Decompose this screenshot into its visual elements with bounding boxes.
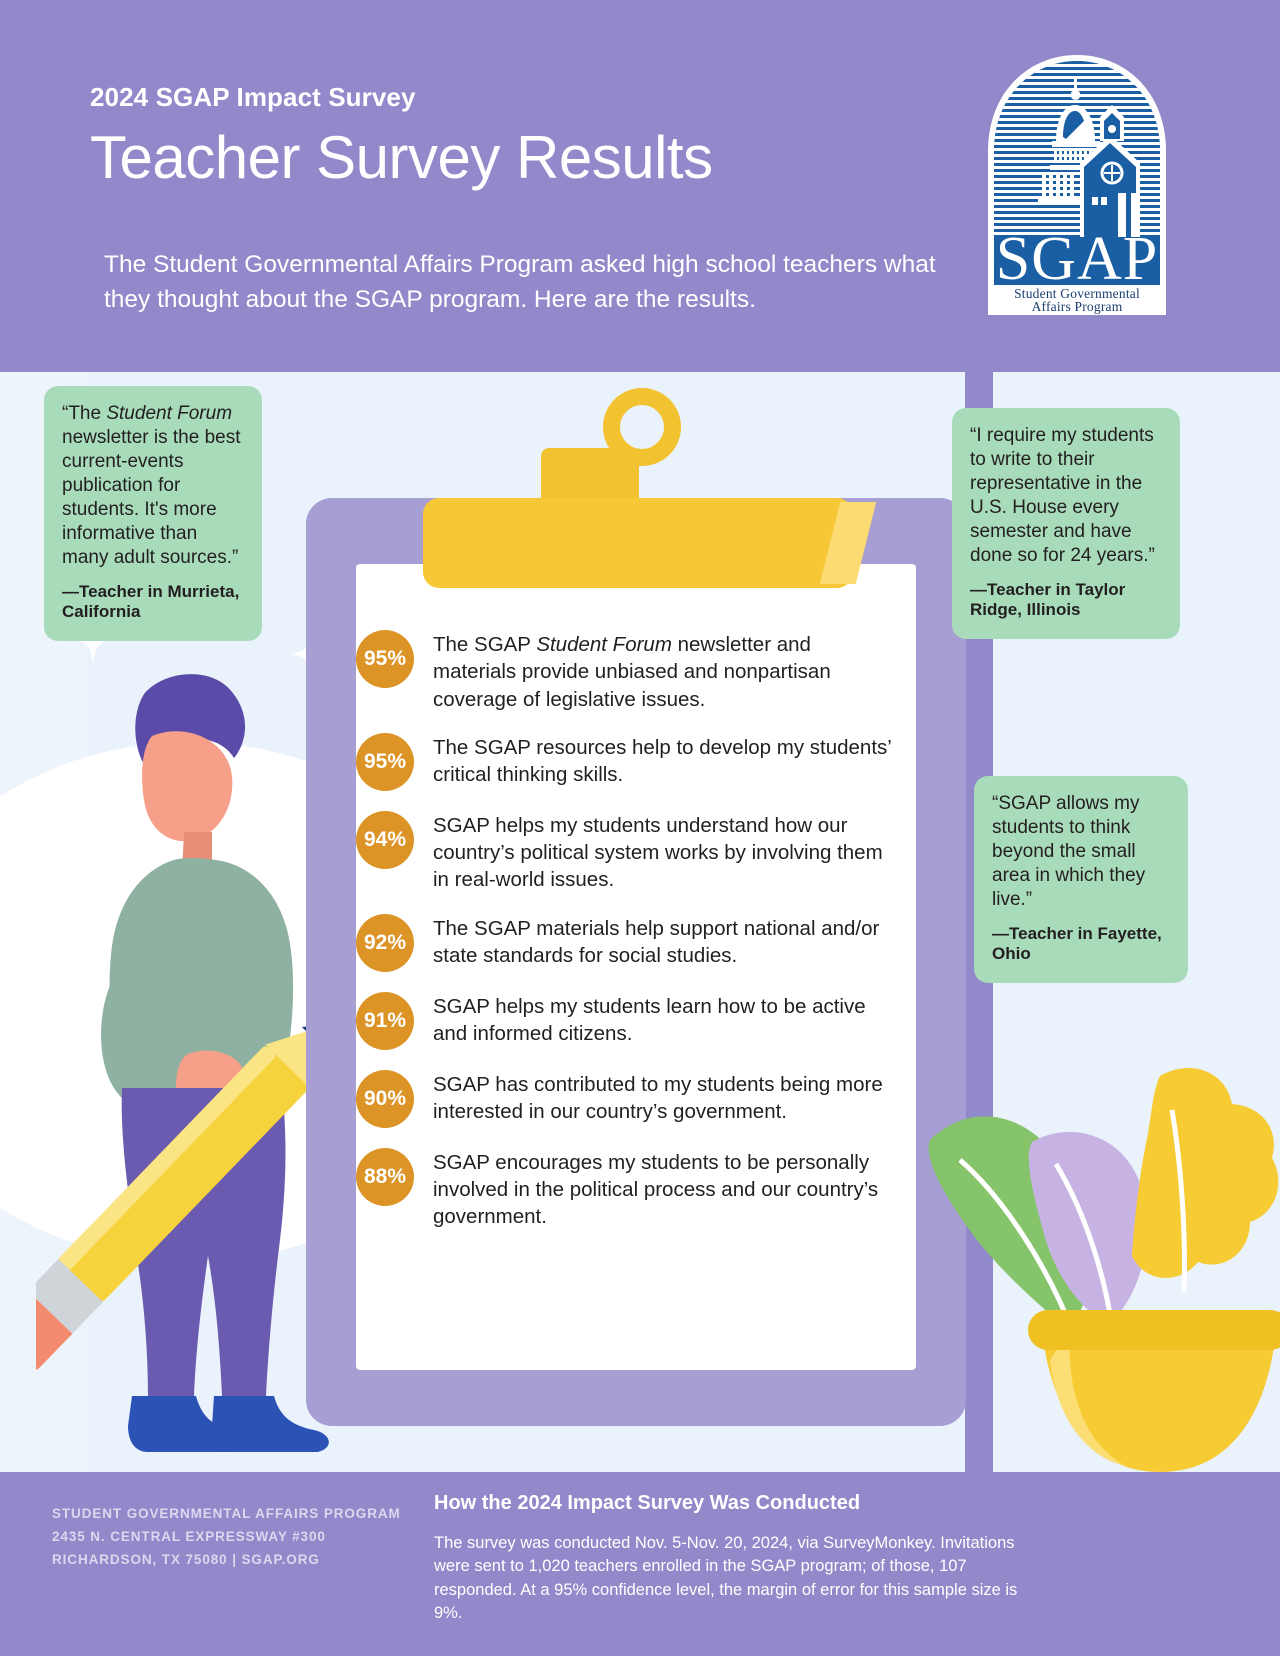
stat-row: 90% SGAP has contributed to my students … bbox=[356, 1070, 896, 1128]
quote-attribution: —Teacher in Murrieta, California bbox=[62, 582, 244, 623]
stat-statement: SGAP helps my students understand how ou… bbox=[433, 811, 896, 894]
footer-org-block: STUDENT GOVERNMENTAL AFFAIRS PROGRAM 243… bbox=[52, 1502, 412, 1572]
footer-address: 2435 N. CENTRAL EXPRESSWAY #300 bbox=[52, 1525, 412, 1548]
methodology-body: The survey was conducted Nov. 5-Nov. 20,… bbox=[434, 1532, 1024, 1625]
stats-list: 95% The SGAP Student Forum newsletter an… bbox=[356, 630, 896, 1250]
footer-city-website[interactable]: RICHARDSON, TX 75080 | SGAP.ORG bbox=[52, 1548, 412, 1571]
quote-text-post: newsletter is the best current-events pu… bbox=[62, 427, 240, 568]
quote-text: “The Student Forum newsletter is the bes… bbox=[62, 402, 244, 570]
stat-row: 92% The SGAP materials help support nati… bbox=[356, 914, 896, 972]
quote-card-right-bottom: “SGAP allows my students to think beyond… bbox=[974, 776, 1188, 983]
clipboard-clip-bar bbox=[423, 498, 853, 588]
stat-text-emphasis: Student Forum bbox=[536, 633, 672, 656]
infographic-page: 95% The SGAP Student Forum newsletter an… bbox=[0, 0, 1280, 1656]
stat-statement: The SGAP resources help to develop my st… bbox=[433, 733, 896, 789]
stat-percent-badge: 88% bbox=[356, 1148, 414, 1206]
stat-percent-badge: 94% bbox=[356, 811, 414, 869]
stat-row: 91% SGAP helps my students learn how to … bbox=[356, 992, 896, 1050]
stat-statement: SGAP encourages my students to be person… bbox=[433, 1148, 896, 1231]
quote-text-emphasis: Student Forum bbox=[106, 403, 232, 424]
footer-methodology-block: How the 2024 Impact Survey Was Conducted… bbox=[434, 1492, 1024, 1625]
stat-percent-badge: 92% bbox=[356, 914, 414, 972]
stat-statement: SGAP helps my students learn how to be a… bbox=[433, 992, 896, 1048]
page-header: 2024 SGAP Impact Survey Teacher Survey R… bbox=[0, 0, 1280, 372]
stat-row: 88% SGAP encourages my students to be pe… bbox=[356, 1148, 896, 1231]
sgap-logo: SGAP Student Governmental Affairs Progra… bbox=[988, 55, 1166, 315]
quote-attribution: —Teacher in Fayette, Ohio bbox=[992, 924, 1170, 965]
stat-statement: The SGAP Student Forum newsletter and ma… bbox=[433, 630, 896, 713]
quote-card-left: “The Student Forum newsletter is the bes… bbox=[44, 386, 262, 641]
stat-statement: SGAP has contributed to my students bein… bbox=[433, 1070, 896, 1126]
header-eyebrow: 2024 SGAP Impact Survey bbox=[90, 82, 416, 113]
stat-row: 94% SGAP helps my students understand ho… bbox=[356, 811, 896, 894]
page-footer: STUDENT GOVERNMENTAL AFFAIRS PROGRAM 243… bbox=[0, 1472, 1280, 1656]
stat-percent-badge: 91% bbox=[356, 992, 414, 1050]
illustration-potted-plant bbox=[920, 1030, 1280, 1472]
header-subtitle: The Student Governmental Affairs Program… bbox=[104, 248, 974, 318]
stat-percent-badge: 90% bbox=[356, 1070, 414, 1128]
stat-percent-badge: 95% bbox=[356, 630, 414, 688]
stat-row: 95% The SGAP resources help to develop m… bbox=[356, 733, 896, 791]
quote-attribution: —Teacher in Taylor Ridge, Illinois bbox=[970, 580, 1162, 621]
footer-org-name: STUDENT GOVERNMENTAL AFFAIRS PROGRAM bbox=[52, 1502, 412, 1525]
logo-acronym: SGAP bbox=[996, 225, 1159, 293]
stat-row: 95% The SGAP Student Forum newsletter an… bbox=[356, 630, 896, 713]
quote-text: “SGAP allows my students to think beyond… bbox=[992, 792, 1170, 912]
stat-statement: The SGAP materials help support national… bbox=[433, 914, 896, 970]
quote-text: “I require my students to write to their… bbox=[970, 424, 1162, 568]
stat-percent-badge: 95% bbox=[356, 733, 414, 791]
methodology-heading: How the 2024 Impact Survey Was Conducted bbox=[434, 1492, 1024, 1515]
page-title: Teacher Survey Results bbox=[90, 125, 713, 191]
stat-text-pre: The SGAP bbox=[433, 633, 536, 656]
logo-tagline-line2: Affairs Program bbox=[1032, 299, 1123, 314]
quote-text-pre: “The bbox=[62, 403, 106, 424]
quote-card-right-top: “I require my students to write to their… bbox=[952, 408, 1180, 639]
